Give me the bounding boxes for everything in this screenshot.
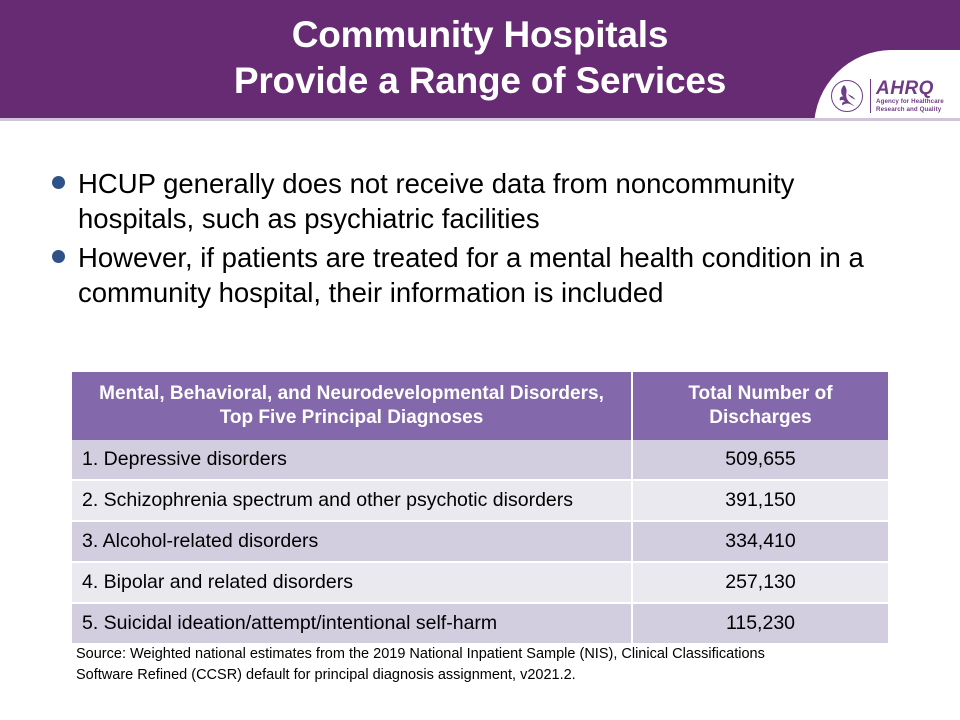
column-header-diagnoses: Mental, Behavioral, and Neurodevelopment… bbox=[72, 372, 632, 440]
list-item: However, if patients are treated for a m… bbox=[52, 240, 912, 310]
table-row: 5. Suicidal ideation/attempt/intentional… bbox=[72, 603, 888, 644]
bullet-text: However, if patients are treated for a m… bbox=[78, 240, 878, 310]
source-note-line-1: Source: Weighted national estimates from… bbox=[76, 644, 906, 665]
table-row: 1. Depressive disorders 509,655 bbox=[72, 440, 888, 480]
title-banner: Community Hospitals Provide a Range of S… bbox=[0, 0, 960, 118]
page-title-line-2: Provide a Range of Services bbox=[0, 58, 960, 104]
cell-discharges: 115,230 bbox=[632, 603, 888, 644]
table-row: 3. Alcohol-related disorders 334,410 bbox=[72, 521, 888, 562]
bullet-dot-icon bbox=[52, 240, 78, 263]
source-note-line-2: Software Refined (CCSR) default for prin… bbox=[76, 665, 906, 686]
logo-tagline-line-2: Research and Quality bbox=[876, 106, 944, 114]
cell-discharges: 257,130 bbox=[632, 562, 888, 603]
ahrq-logo: AHRQ Agency for Healthcare Research and … bbox=[828, 74, 954, 118]
list-item: HCUP generally does not receive data fro… bbox=[52, 166, 912, 236]
logo-divider bbox=[870, 79, 871, 113]
cell-diagnosis: 1. Depressive disorders bbox=[72, 440, 632, 480]
table-row: 4. Bipolar and related disorders 257,130 bbox=[72, 562, 888, 603]
table-row: 2. Schizophrenia spectrum and other psyc… bbox=[72, 480, 888, 521]
logo-tagline-line-1: Agency for Healthcare bbox=[876, 98, 944, 106]
column-header-discharges: Total Number of Discharges bbox=[632, 372, 888, 440]
banner-underline bbox=[0, 118, 960, 121]
bullet-text: HCUP generally does not receive data fro… bbox=[78, 166, 878, 236]
bullet-list: HCUP generally does not receive data fro… bbox=[52, 166, 912, 314]
page-title-line-1: Community Hospitals bbox=[0, 12, 960, 58]
table-header-row: Mental, Behavioral, and Neurodevelopment… bbox=[72, 372, 888, 440]
cell-discharges: 509,655 bbox=[632, 440, 888, 480]
cell-diagnosis: 5. Suicidal ideation/attempt/intentional… bbox=[72, 603, 632, 644]
cell-diagnosis: 4. Bipolar and related disorders bbox=[72, 562, 632, 603]
hhs-bird-icon bbox=[828, 76, 868, 116]
source-note: Source: Weighted national estimates from… bbox=[76, 644, 906, 686]
cell-discharges: 391,150 bbox=[632, 480, 888, 521]
cell-diagnosis: 2. Schizophrenia spectrum and other psyc… bbox=[72, 480, 632, 521]
diagnoses-table: Mental, Behavioral, and Neurodevelopment… bbox=[72, 372, 888, 645]
bullet-dot-icon bbox=[52, 166, 78, 189]
logo-acronym: AHRQ bbox=[876, 79, 944, 98]
logo-text: AHRQ Agency for Healthcare Research and … bbox=[876, 79, 944, 113]
page-title: Community Hospitals Provide a Range of S… bbox=[0, 12, 960, 104]
cell-discharges: 334,410 bbox=[632, 521, 888, 562]
cell-diagnosis: 3. Alcohol-related disorders bbox=[72, 521, 632, 562]
